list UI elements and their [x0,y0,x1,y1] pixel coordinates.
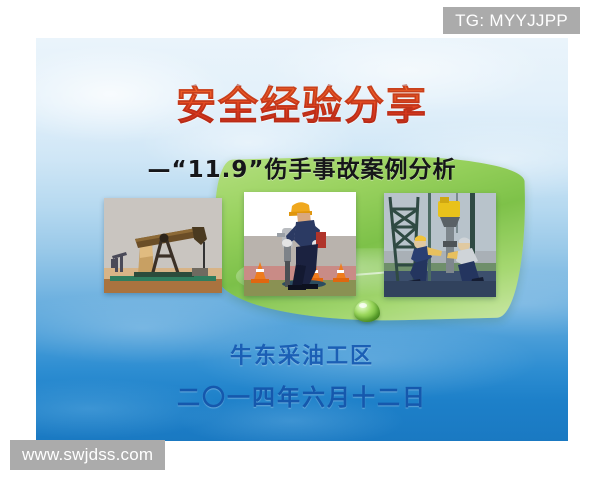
jackhammer-worker-photo [244,192,356,296]
oil-pumpjack-illustration [104,198,222,293]
screenshot-canvas: 安全经验分享 —“11.9”伤手事故案例分析 [0,0,600,480]
presentation-slide: 安全经验分享 —“11.9”伤手事故案例分析 [36,38,568,441]
drilling-rig-workers-illustration [384,193,496,297]
watermark-bottom-left: www.swjdss.com [10,440,165,470]
jackhammer-worker-illustration [244,192,356,296]
organization-name: 牛东采油工区 [36,338,568,370]
watermark-top-right: TG: MYYJJPP [443,7,580,34]
page-subtitle: —“11.9”伤手事故案例分析 [36,150,568,184]
page-title: 安全经验分享 [36,86,568,126]
presentation-date: 二〇一四年六月十二日 [36,378,568,412]
water-droplet-icon [354,300,380,322]
oil-pumpjack-photo [104,198,222,293]
drilling-rig-workers-photo [384,193,496,297]
